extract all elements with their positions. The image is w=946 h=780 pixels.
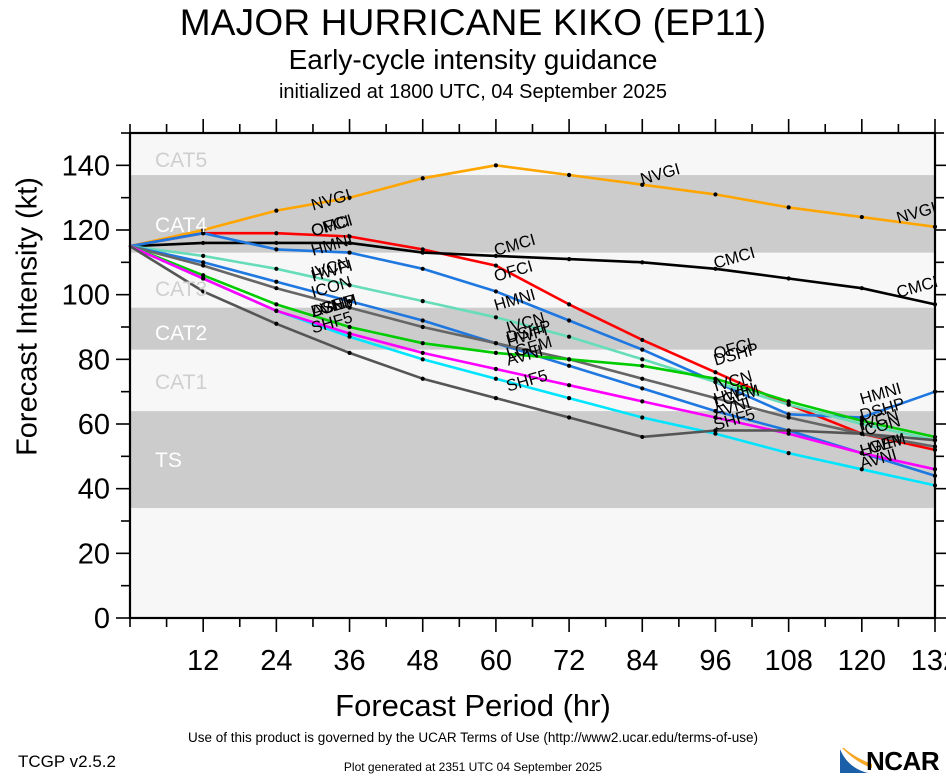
x-tick-label: 72 — [553, 645, 585, 677]
data-point — [421, 341, 425, 345]
data-point — [640, 348, 644, 352]
data-point — [787, 399, 791, 403]
data-point — [787, 451, 791, 455]
data-point — [787, 428, 791, 432]
terms-of-use-text: Use of this product is governed by the U… — [0, 730, 946, 745]
data-point — [494, 163, 498, 167]
data-point — [274, 302, 278, 306]
data-point — [421, 377, 425, 381]
data-point — [713, 192, 717, 196]
data-point — [421, 318, 425, 322]
x-tick-label: 108 — [764, 645, 812, 677]
ncar-logo: NCAR — [838, 745, 942, 777]
data-point — [347, 331, 351, 335]
data-point — [567, 173, 571, 177]
data-point — [640, 260, 644, 264]
data-point — [640, 357, 644, 361]
data-point — [567, 357, 571, 361]
data-point — [421, 357, 425, 361]
data-point — [421, 251, 425, 255]
x-tick-label: 24 — [260, 645, 292, 677]
x-axis-label: Forecast Period (hr) — [0, 688, 946, 724]
data-point — [421, 299, 425, 303]
band-cat5 — [130, 133, 935, 175]
data-point — [567, 302, 571, 306]
data-point — [567, 383, 571, 387]
band-label-cat3: CAT3 — [155, 278, 207, 301]
data-point — [494, 289, 498, 293]
data-point — [640, 377, 644, 381]
data-point — [494, 367, 498, 371]
data-point — [274, 231, 278, 235]
band-label-cat5: CAT5 — [155, 149, 207, 172]
data-point — [274, 267, 278, 271]
band-label-cat1: CAT1 — [155, 371, 207, 394]
data-point — [201, 263, 205, 267]
data-point — [274, 286, 278, 290]
x-tick-label: 84 — [626, 645, 658, 677]
data-point — [494, 351, 498, 355]
data-point — [421, 351, 425, 355]
band-label-cat4: CAT4 — [155, 214, 207, 237]
data-point — [421, 176, 425, 180]
data-point — [640, 399, 644, 403]
version-label: TCGP v2.5.2 — [18, 752, 116, 772]
data-point — [201, 254, 205, 258]
data-point — [567, 257, 571, 261]
data-point — [274, 309, 278, 313]
data-point — [347, 251, 351, 255]
data-point — [640, 386, 644, 390]
data-point — [274, 241, 278, 245]
y-tick-label: 120 — [62, 215, 110, 247]
data-point — [201, 241, 205, 245]
band-label-ts: TS — [155, 449, 182, 472]
y-tick-label: 100 — [62, 280, 110, 312]
x-tick-label: 132 — [911, 645, 946, 677]
ncar-wordmark: NCAR — [866, 746, 939, 777]
x-tick-label: 60 — [480, 645, 512, 677]
data-point — [494, 396, 498, 400]
x-tick-label: 36 — [333, 645, 365, 677]
data-point — [567, 415, 571, 419]
plot-generated-text: Plot generated at 2351 UTC 04 September … — [0, 760, 946, 774]
y-tick-label: 0 — [94, 603, 110, 635]
data-point — [640, 364, 644, 368]
data-point — [787, 276, 791, 280]
y-tick-label: 60 — [78, 409, 110, 441]
data-point — [640, 338, 644, 342]
y-tick-label: 80 — [78, 344, 110, 376]
plot-canvas: NVGINVGINVGIOFCIOFCIOFCICMCICMCICMCICMCI… — [0, 0, 946, 680]
data-point — [567, 318, 571, 322]
data-point — [494, 315, 498, 319]
data-point — [494, 341, 498, 345]
x-tick-label: 12 — [187, 645, 219, 677]
data-point — [860, 215, 864, 219]
data-point — [274, 209, 278, 213]
x-tick-label: 48 — [407, 645, 439, 677]
band-label-cat2: CAT2 — [155, 322, 207, 345]
data-point — [567, 396, 571, 400]
x-tick-label: 120 — [838, 645, 886, 677]
data-point — [421, 325, 425, 329]
data-point — [640, 435, 644, 439]
x-tick-label: 96 — [699, 645, 731, 677]
data-point — [713, 370, 717, 374]
data-point — [787, 415, 791, 419]
y-tick-label: 20 — [78, 538, 110, 570]
data-point — [787, 205, 791, 209]
y-tick-label: 140 — [62, 150, 110, 182]
data-point — [274, 322, 278, 326]
data-point — [860, 286, 864, 290]
data-point — [421, 267, 425, 271]
data-point — [567, 364, 571, 368]
data-point — [347, 351, 351, 355]
hurricane-intensity-chart: MAJOR HURRICANE KIKO (EP11) Early-cycle … — [0, 0, 946, 780]
data-point — [274, 247, 278, 251]
data-point — [567, 335, 571, 339]
y-tick-label: 40 — [78, 474, 110, 506]
data-point — [274, 280, 278, 284]
data-point — [494, 377, 498, 381]
data-point — [640, 415, 644, 419]
